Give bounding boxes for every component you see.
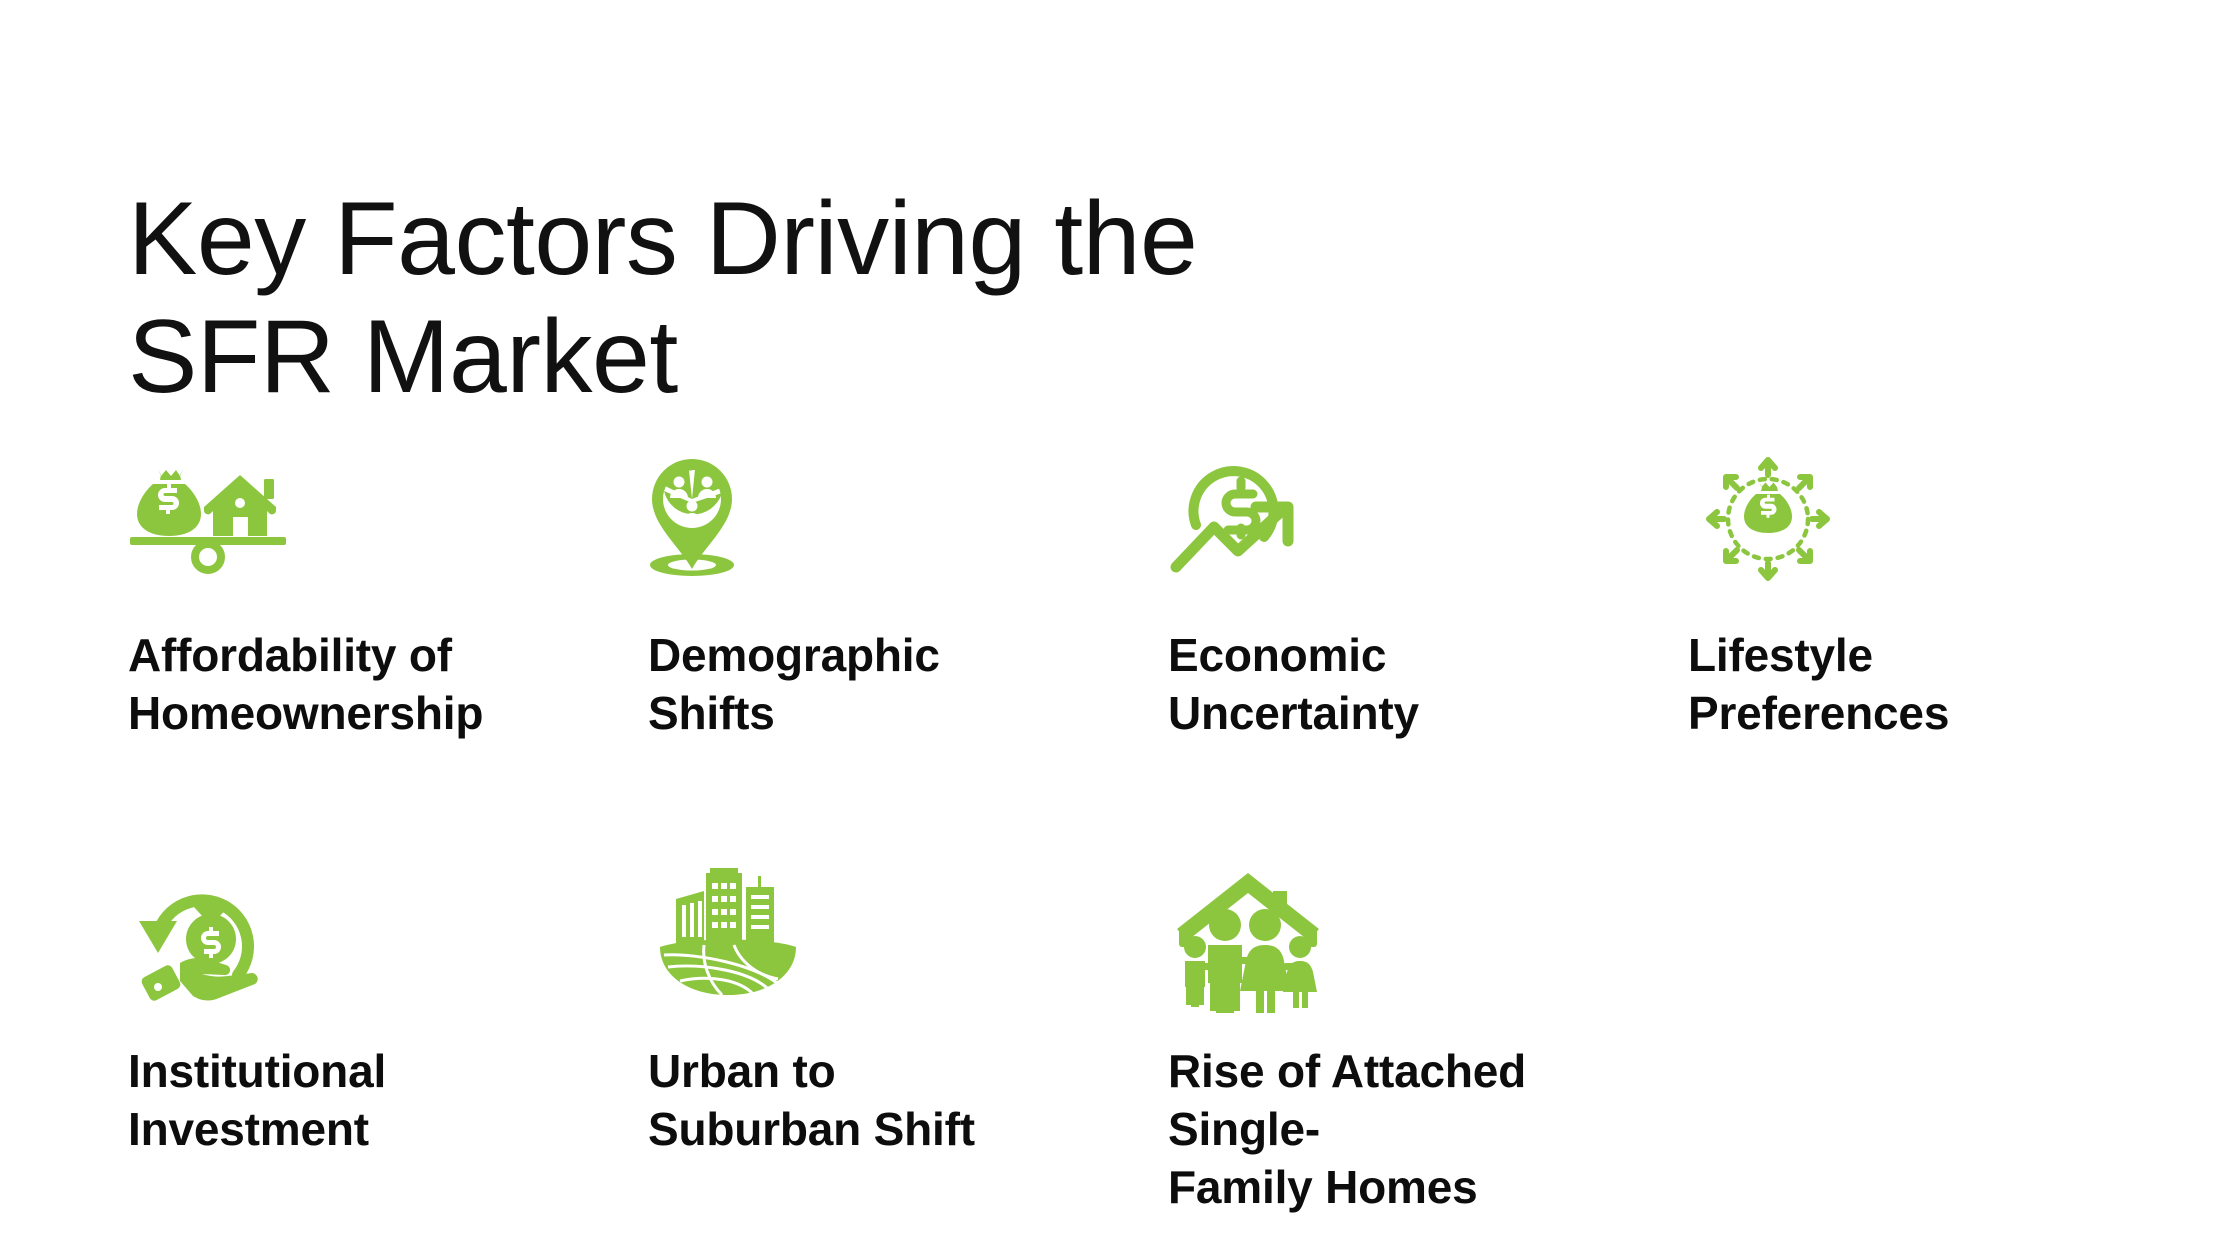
money-bag-radiating-arrows-icon	[1688, 455, 1848, 583]
factor-item-demographic-shifts[interactable]: Demographic Shifts	[648, 455, 1168, 743]
city-buildings-fields-icon	[648, 871, 808, 999]
slide-canvas: Key Factors Driving the SFR Market	[0, 0, 2240, 1260]
map-pin-people-pie-icon	[648, 455, 808, 583]
factor-grid: Affordability of Homeownership	[128, 455, 2128, 1217]
page-title: Key Factors Driving the SFR Market	[128, 180, 1378, 417]
family-under-roof-icon	[1168, 871, 1328, 999]
factor-item-urban-to-suburban-shift[interactable]: Urban to Suburban Shift	[648, 871, 1168, 1159]
factor-label: Affordability of Homeownership	[128, 627, 483, 743]
factor-item-rise-of-attached-single-family-homes[interactable]: Rise of Attached Single- Family Homes	[1168, 871, 1688, 1217]
factor-label: Demographic Shifts	[648, 627, 940, 743]
factor-label: Lifestyle Preferences	[1688, 627, 1949, 743]
balance-scale-money-house-icon	[128, 455, 288, 583]
factor-label: Urban to Suburban Shift	[648, 1043, 975, 1159]
hand-money-bag-return-arrow-icon	[128, 871, 288, 999]
factor-item-lifestyle-preferences[interactable]: Lifestyle Preferences	[1688, 455, 2148, 743]
factor-item-institutional-investment[interactable]: Institutional Investment	[128, 871, 648, 1159]
dollar-circle-growth-arrow-icon	[1168, 455, 1328, 583]
factor-row: Affordability of Homeownership	[128, 455, 2128, 743]
factor-row: Institutional Investment	[128, 871, 2128, 1217]
factor-label: Rise of Attached Single- Family Homes	[1168, 1043, 1638, 1217]
factor-label: Economic Uncertainty	[1168, 627, 1419, 743]
factor-item-economic-uncertainty[interactable]: Economic Uncertainty	[1168, 455, 1688, 743]
factor-item-affordability-of-homeownership[interactable]: Affordability of Homeownership	[128, 455, 648, 743]
factor-label: Institutional Investment	[128, 1043, 386, 1159]
